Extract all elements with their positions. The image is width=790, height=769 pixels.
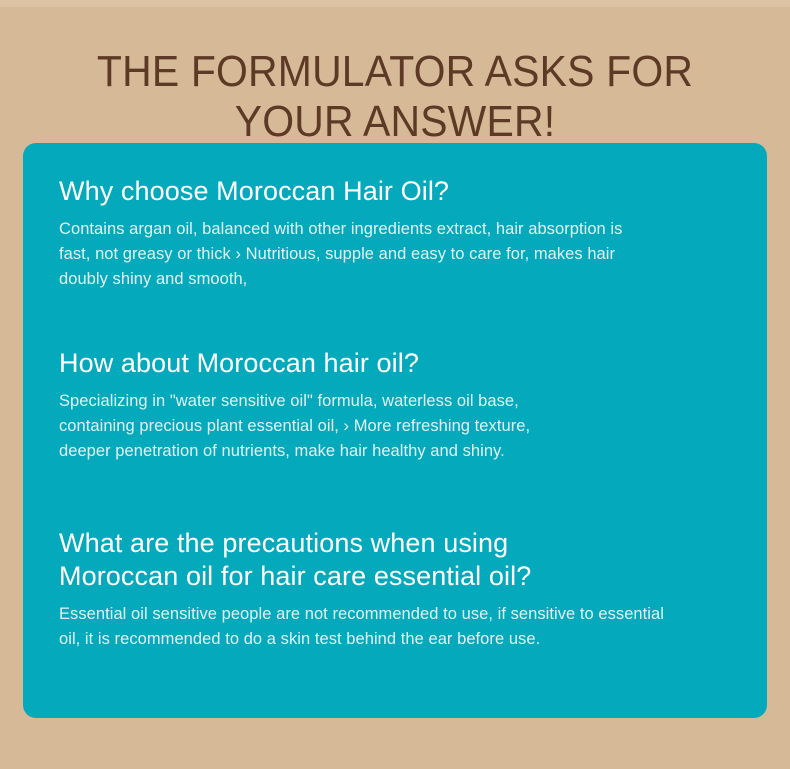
faq-item-3: What are the precautions when using Moro… bbox=[59, 527, 731, 652]
top-edge-strip bbox=[0, 0, 790, 7]
faq-question-3: What are the precautions when using Moro… bbox=[59, 527, 731, 593]
faq-question-2: How about Moroccan hair oil? bbox=[59, 347, 731, 380]
page-title: THE FORMULATOR ASKS FOR YOUR ANSWER! bbox=[28, 47, 763, 147]
faq-item-1: Why choose Moroccan Hair Oil? Contains a… bbox=[59, 175, 731, 292]
faq-answer-1: Contains argan oil, balanced with other … bbox=[59, 217, 731, 292]
faq-answer-2: Specializing in "water sensitive oil" fo… bbox=[59, 389, 731, 464]
faq-panel: Why choose Moroccan Hair Oil? Contains a… bbox=[23, 143, 767, 718]
promo-page: THE FORMULATOR ASKS FOR YOUR ANSWER! Why… bbox=[0, 0, 790, 769]
faq-answer-3: Essential oil sensitive people are not r… bbox=[59, 602, 731, 652]
faq-question-1: Why choose Moroccan Hair Oil? bbox=[59, 175, 731, 208]
faq-item-2: How about Moroccan hair oil? Specializin… bbox=[59, 347, 731, 464]
